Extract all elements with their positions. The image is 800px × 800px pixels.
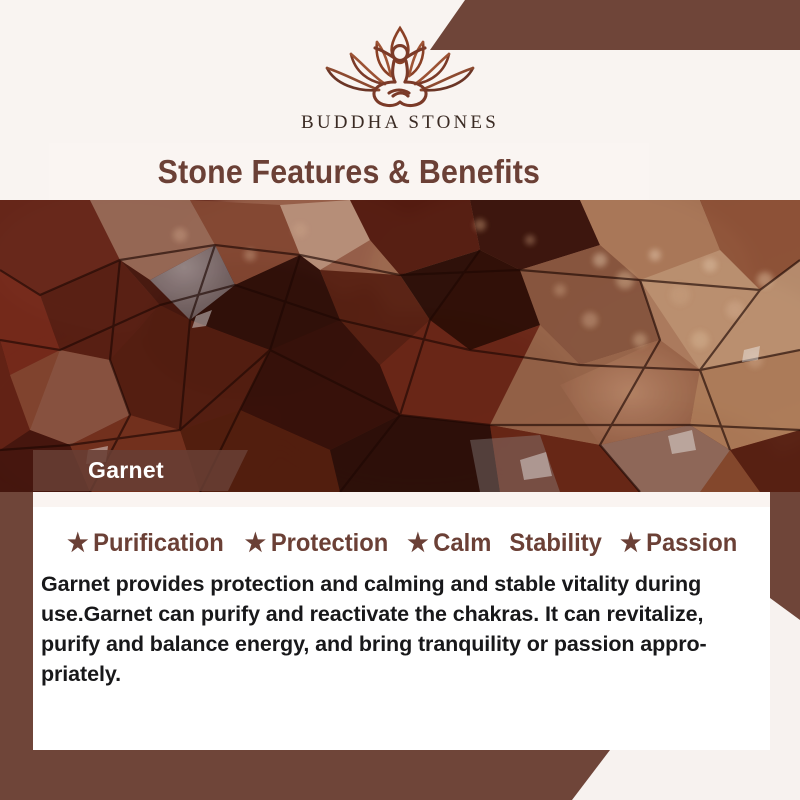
- stone-description: Garnet provides protection and calming a…: [41, 569, 761, 689]
- stone-name-text: Garnet: [88, 457, 164, 484]
- content-panel: ★ Purification ★ Protection ★ Calm ★ Sta…: [33, 507, 770, 750]
- benefit-label: Protection: [271, 529, 388, 558]
- benefit-item: ★ Protection: [245, 529, 388, 558]
- benefit-label: Calm: [433, 529, 491, 558]
- benefits-list: ★ Purification ★ Protection ★ Calm ★ Sta…: [33, 529, 770, 558]
- panel-top-gap: [33, 492, 770, 507]
- decor-left-strip: [0, 492, 33, 750]
- stone-photo-image: [0, 200, 800, 492]
- benefit-label: Stability: [509, 529, 601, 558]
- decor-bottom-band: [0, 750, 610, 800]
- star-icon: ★: [620, 531, 641, 556]
- benefit-label: Passion: [646, 529, 737, 558]
- star-icon: ★: [407, 531, 428, 556]
- page-title: Stone Features & Benefits: [158, 153, 541, 191]
- decor-top-right-band: [430, 0, 800, 50]
- poster-root: BUDDHA STONES Stone Features & Benefits: [0, 0, 800, 800]
- benefit-item: ★ Calm: [407, 529, 491, 558]
- star-icon: ★: [245, 531, 266, 556]
- benefit-item: ★ Purification: [67, 529, 224, 558]
- title-banner: Stone Features & Benefits: [49, 143, 649, 200]
- star-icon: ★: [67, 531, 88, 556]
- benefit-label: Purification: [93, 529, 224, 558]
- brand-name: BUDDHA STONES: [0, 112, 800, 134]
- decor-right-strip: [770, 492, 800, 620]
- stone-name-label: Garnet: [33, 450, 248, 491]
- benefit-item: ★ Stability: [509, 529, 601, 558]
- benefit-item: ★ Passion: [620, 529, 737, 558]
- stone-photo: [0, 200, 800, 492]
